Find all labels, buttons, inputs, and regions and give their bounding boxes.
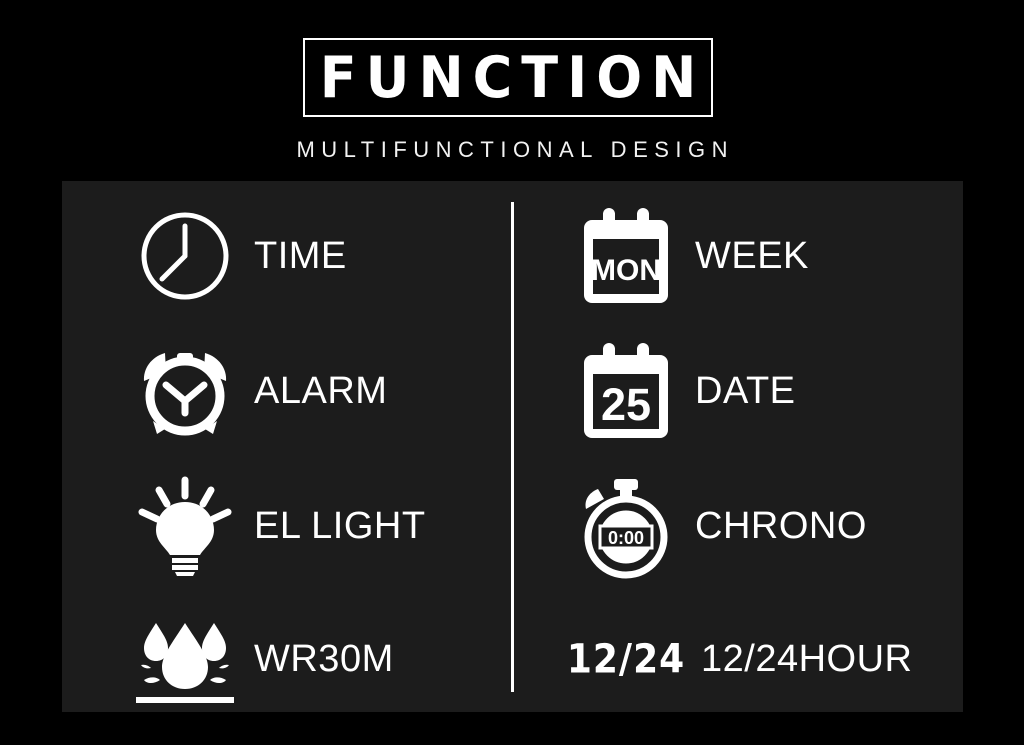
stopwatch-display-text: 0:00	[608, 528, 644, 548]
feature-item-alarm[interactable]: ALARM	[130, 336, 387, 446]
feature-item-el-light[interactable]: EL LIGHT	[130, 471, 426, 581]
function-feature-graphic: FUNCTION MULTIFUNCTIONAL DESIGN TIME	[0, 0, 1024, 745]
feature-label: EL LIGHT	[254, 507, 426, 545]
feature-item-water-resistance[interactable]: WR30M	[130, 604, 394, 714]
page-title: FUNCTION	[311, 49, 706, 106]
feature-item-12-24-hour[interactable]: 12/24 12/24HOUR	[571, 604, 912, 714]
feature-item-chrono[interactable]: 0:00 CHRONO	[571, 471, 867, 581]
feature-column-left: TIME	[62, 181, 512, 712]
twelve-24-icon: 12/24	[571, 604, 681, 714]
calendar-week-icon: MON	[571, 201, 681, 311]
feature-label: WR30M	[254, 640, 394, 678]
feature-label: DATE	[695, 372, 796, 410]
water-drops-icon	[130, 604, 240, 714]
feature-label: ALARM	[254, 372, 387, 410]
clock-icon	[130, 201, 240, 311]
feature-label: 12/24HOUR	[701, 640, 912, 678]
feature-column-right: MON WEEK 25 DATE	[515, 181, 963, 712]
twelve-24-icon-text: 12/24	[567, 636, 685, 682]
title-frame: FUNCTION	[303, 38, 713, 117]
alarm-clock-icon	[130, 336, 240, 446]
calendar-week-text: MON	[591, 254, 661, 287]
feature-label: TIME	[254, 237, 347, 275]
feature-label: CHRONO	[695, 507, 867, 545]
feature-item-time[interactable]: TIME	[130, 201, 347, 311]
feature-label: WEEK	[695, 237, 809, 275]
stopwatch-icon: 0:00	[571, 471, 681, 581]
calendar-date-icon: 25	[571, 336, 681, 446]
calendar-date-text: 25	[601, 379, 651, 430]
light-bulb-icon	[130, 471, 240, 581]
feature-item-date[interactable]: 25 DATE	[571, 336, 796, 446]
page-subtitle: MULTIFUNCTIONAL DESIGN	[0, 137, 1024, 163]
feature-item-week[interactable]: MON WEEK	[571, 201, 809, 311]
